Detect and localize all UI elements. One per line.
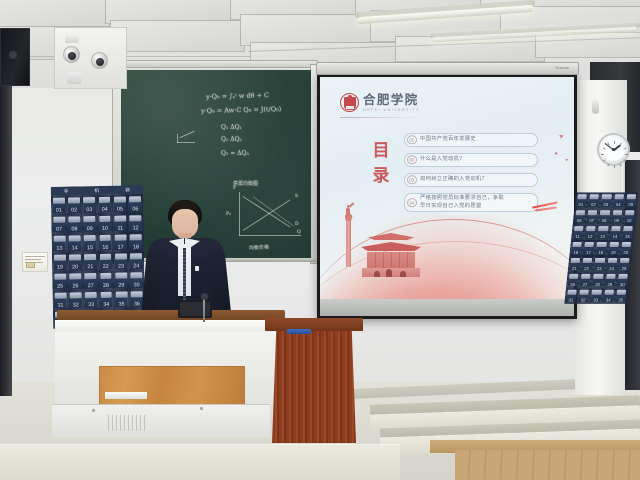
flying-birds-icon-2: ➤ (553, 151, 558, 158)
phone-pocket-number: 23 (597, 265, 602, 270)
red-ribbon-icon (532, 203, 562, 213)
phone-pocket-number: 29 (607, 281, 612, 286)
phone-pocket-number: 10 (102, 225, 108, 232)
phone-pocket[interactable]: 10 (97, 214, 113, 233)
list-item-label: 中国共产党百年发展史 (420, 136, 476, 144)
phone-pocket-number: 20 (623, 250, 628, 255)
chalk-formula-5: Q₃ = ΔQ₃ (221, 150, 249, 157)
phone-pocket-number: 12 (587, 234, 592, 239)
ceiling-speaker (0, 28, 30, 86)
phone-pocket[interactable]: 01 (51, 196, 67, 215)
phone-pocket-number: 20 (72, 264, 78, 271)
phone-pocket[interactable]: 10 (622, 208, 636, 224)
phone-pocket-number: 09 (87, 226, 93, 233)
phone-pocket-number: 04 (616, 202, 621, 207)
phone-pocket[interactable]: 30 (616, 272, 630, 288)
list-item: 04 严格按照党员标准要求自己，争取 早日实现自己入党的愿望 (404, 193, 538, 212)
desk-microphone-stand (203, 298, 205, 322)
housing-label: Telecom (555, 66, 569, 70)
phone-pocket-number: 31 (568, 297, 573, 302)
phone-pocket-number: 26 (72, 283, 78, 290)
phone-pocket[interactable]: 11 (112, 213, 128, 232)
wall-notice-sign (22, 252, 48, 272)
phone-pocket-number: 28 (595, 281, 600, 286)
phone-pocket-number: 34 (606, 297, 611, 302)
list-item-label: 如何树立正确的入党动机? (420, 176, 485, 184)
phone-pocket-number: 26 (570, 281, 575, 286)
camera-bracket-2 (67, 72, 81, 84)
phone-pocket-number: 25 (57, 283, 63, 290)
phone-pocket[interactable]: 04 (97, 195, 113, 214)
phone-pocket[interactable]: 28 (98, 271, 114, 290)
chalk-bottom-note: 均衡价格 (249, 243, 269, 251)
phone-pocket-number: 03 (86, 207, 92, 214)
phone-pocket-number: 13 (600, 234, 605, 239)
phone-pocket-number: 28 (103, 282, 109, 289)
podium-base-panel (52, 404, 270, 438)
phone-pocket-number: 06 (577, 218, 582, 223)
phone-pocket-number: 02 (71, 207, 77, 214)
phone-pocket[interactable]: 29 (113, 270, 129, 289)
chalk-formula-4: Q₂ ΔQ₂ (221, 136, 242, 143)
phone-pocket[interactable]: 03 (82, 195, 98, 214)
phone-pocket[interactable]: 19 (52, 253, 68, 272)
phone-pocket-number: 11 (575, 234, 580, 239)
phone-pocket-number: 05 (117, 206, 123, 213)
phone-pocket-grid-right: 0102030405060708091011121314151617181920… (564, 192, 638, 303)
chalk-formula-3: Q₁ ΔQ₁ (221, 124, 242, 131)
phone-pocket[interactable]: 13 (52, 234, 68, 253)
phone-pocket-number: 01 (56, 207, 62, 214)
phone-pocket-number: 03 (603, 202, 608, 207)
header-char-3: 袋 (125, 187, 130, 193)
phone-pocket-number: 06 (132, 206, 138, 213)
phone-pocket-number: 07 (589, 218, 594, 223)
phone-pocket[interactable]: 35 (614, 288, 628, 304)
list-item: 02 什么是入党动机? (404, 153, 538, 167)
phone-pocket-number: 14 (72, 245, 78, 252)
phone-pocket[interactable]: 09 (82, 214, 98, 233)
list-item-number: 01 (407, 135, 417, 145)
podium-body (55, 332, 283, 406)
phone-pocket-number: 14 (612, 234, 617, 239)
phone-pocket[interactable]: 15 (82, 233, 98, 252)
wall-clock (597, 133, 630, 166)
slide-section-title: 目录 (371, 139, 391, 188)
camera-bracket (65, 33, 79, 43)
phone-pocket[interactable]: 21 (83, 252, 99, 271)
list-item-number: 04 (407, 198, 417, 208)
podium-monitor (178, 300, 212, 318)
phone-pocket[interactable]: 05 (624, 192, 638, 208)
phone-pocket-number: 16 (102, 244, 108, 251)
chalk-formula-2: y·Q₀ = Aw·C Q₀ = J(t/Q₀) (201, 105, 281, 115)
phone-pocket[interactable]: 23 (113, 251, 129, 270)
paper-stack (105, 392, 147, 399)
phone-pocket-number: 29 (118, 282, 124, 289)
university-logo: 合肥学院 HEFEI UNIVERSITY (340, 93, 420, 112)
screen-bottom-bar (320, 299, 574, 316)
list-item-label: 什么是入党动机? (420, 156, 462, 164)
phone-pocket-number: 32 (581, 297, 586, 302)
phone-pocket[interactable]: 08 (67, 214, 83, 233)
header-char-2: 机 (94, 187, 99, 193)
slide-agenda-list: 01 中国共产党百年发展史 02 什么是入党动机? 03 如何树立正确的入党动机… (404, 133, 538, 219)
phone-pocket-number: 19 (57, 264, 63, 271)
phone-pocket-number: 30 (134, 282, 140, 289)
phone-pocket-number: 02 (591, 202, 596, 207)
wood-floor (455, 450, 640, 480)
chalk-label-s: S (295, 194, 298, 199)
wooden-lectern (265, 318, 363, 443)
phone-pocket-number: 25 (621, 265, 626, 270)
chalk-axis-label-p: P (233, 186, 236, 191)
phone-pocket-number: 15 (87, 245, 93, 252)
list-item: 01 中国共产党百年发展史 (404, 133, 538, 147)
phone-pocket-number: 19 (611, 250, 616, 255)
phone-pocket[interactable]: 22 (98, 252, 114, 271)
phone-pocket-number: 01 (578, 202, 583, 207)
phone-pocket-number: 18 (133, 244, 139, 251)
phone-pocket-number: 30 (620, 281, 625, 286)
phone-pocket-number: 13 (56, 245, 62, 252)
projection-screen-housing: Telecom (316, 62, 579, 75)
phone-pocket-number: 22 (584, 265, 589, 270)
dome-camera-icon-2 (91, 52, 108, 69)
chalk-axis-label-q: Q (297, 230, 301, 235)
header-char-1: 手 (64, 188, 69, 194)
phone-pocket[interactable]: 16 (97, 233, 113, 252)
phone-pocket-number: 05 (628, 202, 633, 207)
phone-pocket-number: 21 (572, 265, 577, 270)
flying-birds-icon: ➤ (558, 132, 565, 140)
chalk-diagram-note: 供需均衡图 (233, 180, 258, 187)
phone-pocket-number: 04 (102, 206, 108, 213)
phone-pocket-number: 07 (56, 226, 62, 233)
monument-to-peoples-heroes-icon (342, 205, 355, 267)
phone-pocket-number: 27 (582, 281, 587, 286)
logo-divider (340, 117, 418, 118)
phone-pocket-number: 12 (133, 225, 139, 232)
phone-pocket-number: 17 (586, 250, 591, 255)
university-name-en: HEFEI UNIVERSITY (363, 108, 420, 112)
phone-pocket[interactable]: 25 (52, 272, 68, 291)
phone-pocket-number: 27 (88, 283, 94, 290)
chalk-label-d: D (295, 222, 299, 227)
phone-pocket[interactable]: 15 (621, 224, 635, 240)
camera-mount-plate (54, 27, 127, 89)
phone-pocket-number: 23 (118, 263, 124, 270)
list-item: 03 如何树立正确的入党动机? (404, 173, 538, 187)
phone-pocket-number: 09 (614, 218, 619, 223)
phone-pocket-number: 33 (593, 297, 598, 302)
phone-pocket-number: 08 (602, 218, 607, 223)
phone-pocket-number: 21 (87, 264, 93, 271)
phone-pocket-organizer-right: 0102030405060708091011121314151617181920… (564, 192, 639, 309)
phone-pocket-number: 08 (71, 226, 77, 233)
lectern-top (265, 318, 363, 331)
phone-pocket[interactable]: 25 (617, 256, 631, 272)
phone-pocket[interactable]: 26 (68, 271, 84, 290)
tiananmen-gate-icon (360, 233, 422, 277)
phone-pocket-number: 24 (609, 265, 614, 270)
bullet-camera-icon (592, 100, 599, 114)
university-name-cn: 合肥学院 (363, 94, 420, 107)
phone-pocket-number: 16 (573, 250, 578, 255)
phone-pocket[interactable]: 27 (83, 271, 99, 290)
presenter-badge (195, 266, 199, 271)
dome-camera-icon (63, 46, 80, 63)
phone-pocket-number: 24 (133, 263, 139, 270)
lectern-body (272, 331, 356, 443)
phone-pocket-number: 11 (117, 225, 123, 232)
flying-birds-icon-3: ➤ (564, 157, 568, 162)
lecture-hall-photo: y·Q₀ = ∫ₑᵗ w dθ + C y·Q₀ = Aw·C Q₀ = J(t… (0, 0, 640, 480)
phone-pocket[interactable]: 07 (51, 215, 67, 234)
phone-pocket-number: 15 (625, 234, 630, 239)
university-seal-icon (340, 93, 359, 112)
blue-desk-item (287, 329, 311, 334)
phone-pocket-number: 35 (618, 297, 623, 302)
phone-pocket-number: 17 (118, 244, 124, 251)
phone-pocket-number: 22 (103, 263, 109, 270)
phone-pocket-number: 18 (598, 250, 603, 255)
blackboard-top-frame (118, 60, 318, 68)
chalk-formula-1: y·Q₀ = ∫ₑᵗ w dθ + C (206, 91, 269, 101)
presentation-slide: 合肥学院 HEFEI UNIVERSITY 目录 01 中国共产党百年发展史 0… (320, 77, 574, 299)
desk-microphone (201, 293, 208, 300)
phone-pocket[interactable]: 05 (112, 194, 128, 213)
list-item-number: 02 (407, 155, 417, 165)
phone-pocket[interactable]: 14 (67, 233, 83, 252)
teacher-control-podium (55, 306, 283, 436)
phone-pocket[interactable]: 20 (67, 252, 83, 271)
phone-pocket[interactable]: 20 (619, 240, 633, 256)
phone-pocket[interactable]: 02 (66, 195, 82, 214)
wall-left-edge (0, 86, 12, 396)
phone-pocket[interactable]: 17 (113, 232, 129, 251)
projection-screen: 合肥学院 HEFEI UNIVERSITY 目录 01 中国共产党百年发展史 0… (317, 74, 577, 319)
list-item-label: 严格按照党员标准要求自己，争取 早日实现自己入党的愿望 (420, 195, 504, 210)
list-item-number: 03 (407, 175, 417, 185)
phone-pocket-number: 10 (626, 218, 631, 223)
